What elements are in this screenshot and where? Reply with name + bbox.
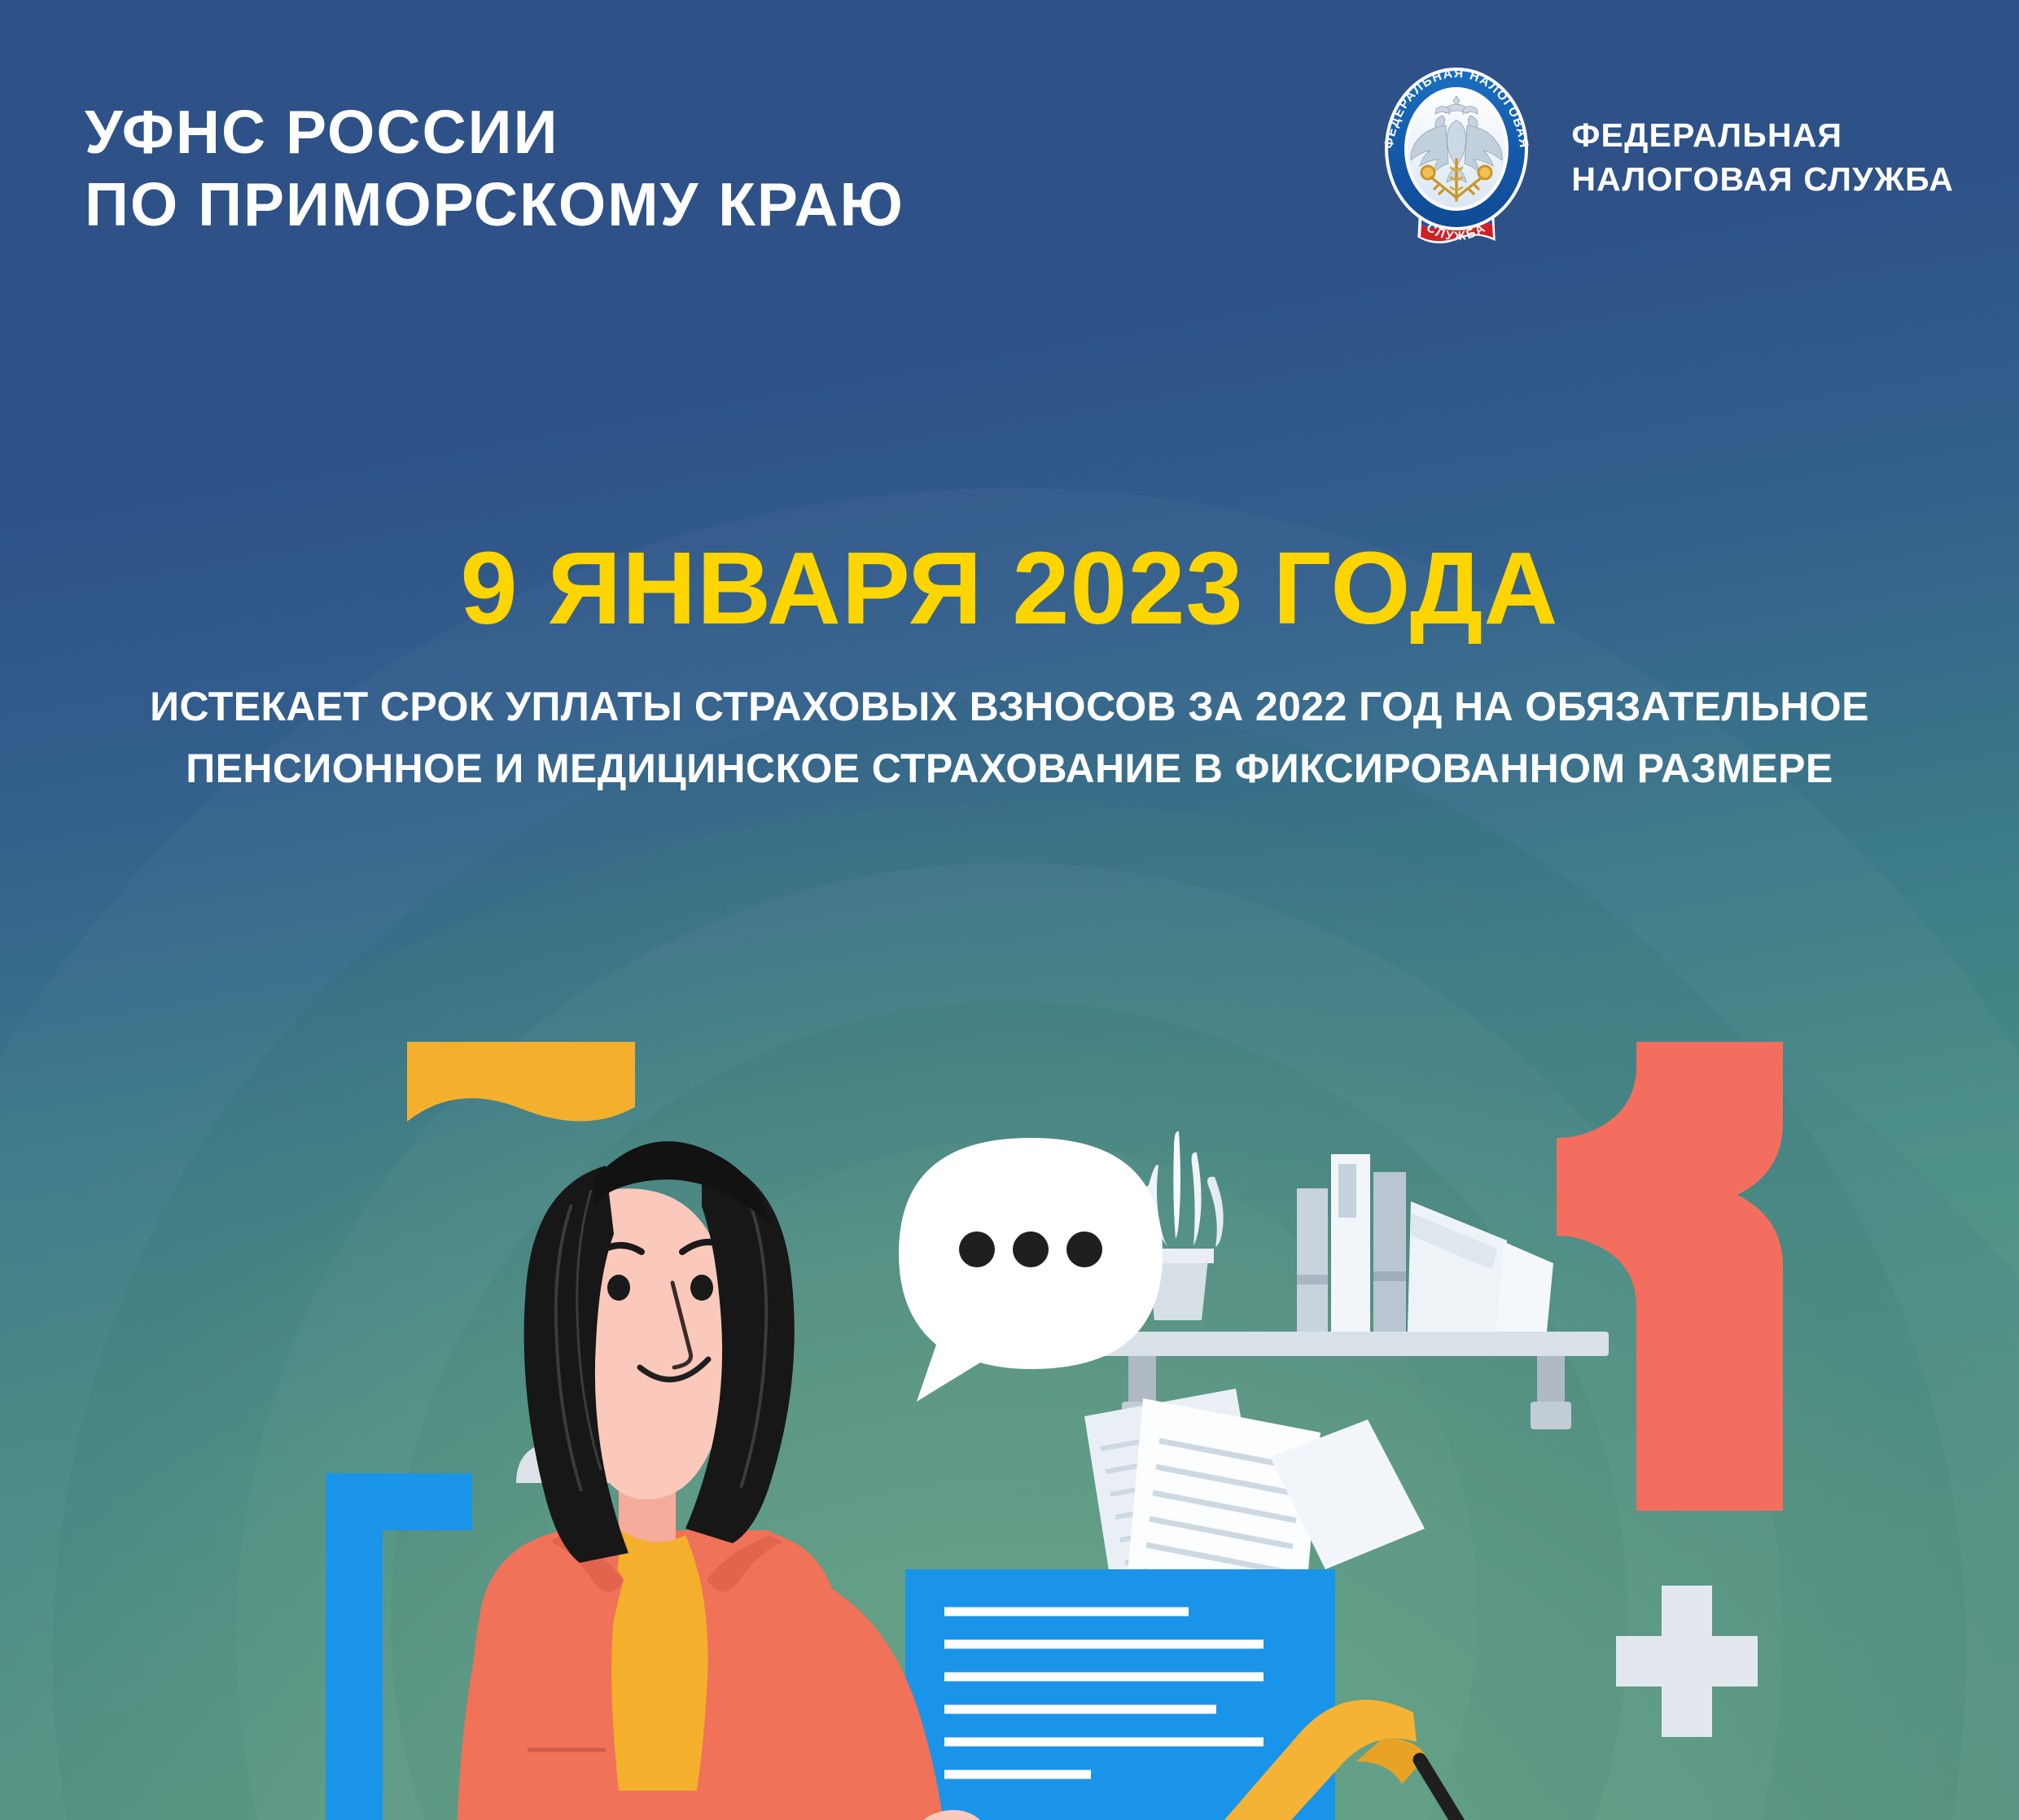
speech-bubble-ellipsis	[899, 1138, 1163, 1402]
white-plus-shape	[1616, 1586, 1758, 1737]
shelf-board	[1096, 1332, 1609, 1356]
books-group	[1297, 1154, 1553, 1332]
headline-date: 9 ЯНВАРЯ 2023 ГОДА	[0, 537, 2019, 640]
illustration: СТРАХОВЫЕ ВЗНОСЫ	[0, 1042, 2019, 1820]
headline-subtitle: ИСТЕКАЕТ СРОК УПЛАТЫ СТРАХОВЫХ ВЗНОСОВ З…	[0, 676, 2019, 799]
red-bracket-shape	[1557, 1042, 1783, 1511]
organization-title: УФНС РОССИИ ПО ПРИМОРСКОМУ КРАЮ	[85, 96, 904, 240]
header: УФНС РОССИИ ПО ПРИМОРСКОМУ КРАЮ	[0, 0, 2019, 293]
headline-block: 9 ЯНВАРЯ 2023 ГОДА ИСТЕКАЕТ СРОК УПЛАТЫ …	[0, 537, 2019, 799]
fns-brand-name: ФЕДЕРАЛЬНАЯ НАЛОГОВАЯ СЛУЖБА	[1571, 113, 1954, 201]
fns-emblem-icon: ФЕДЕРАЛЬНАЯ НАЛОГОВАЯ СЛУЖБА	[1371, 63, 1542, 251]
poster-canvas: УФНС РОССИИ ПО ПРИМОРСКОМУ КРАЮ	[0, 0, 2019, 1820]
yellow-wave-shape	[407, 1042, 635, 1122]
blue-corner-shape	[326, 1473, 472, 1820]
wall-shelf	[1096, 1131, 1609, 1429]
fns-brand-lockup: ФЕДЕРАЛЬНАЯ НАЛОГОВАЯ СЛУЖБА	[1371, 63, 1954, 251]
